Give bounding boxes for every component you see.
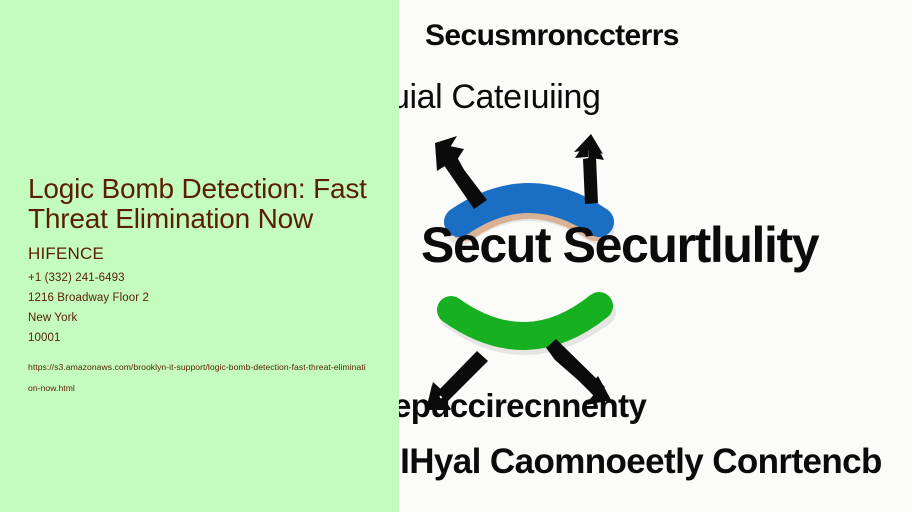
- left-info-panel: Logic Bomb Detection: Fast Threat Elimin…: [0, 0, 399, 512]
- bottom-arc: [451, 306, 599, 336]
- contact-phone[interactable]: +1 (332) 241-6493: [28, 268, 373, 288]
- page-title: Logic Bomb Detection: Fast Threat Elimin…: [28, 174, 373, 234]
- brand-name: HIFENCE: [28, 244, 373, 264]
- contact-address-zip: 10001: [28, 328, 373, 348]
- article-info-block: Logic Bomb Detection: Fast Threat Elimin…: [28, 174, 373, 399]
- graphic-footer-line-2: iIHyal Caomnoeetly Conrtencb: [399, 442, 882, 482]
- page-root: Logic Bomb Detection: Fast Threat Elimin…: [0, 0, 912, 512]
- contact-address-street: 1216 Broadway Floor 2: [28, 288, 373, 308]
- bottom-arc-shadow: [454, 312, 602, 341]
- graphic-heading-line-2: uial Cateıuiing: [399, 78, 600, 117]
- source-url-link[interactable]: https://s3.amazonaws.com/brooklyn-it-sup…: [28, 357, 368, 399]
- graphic-footer-line-1: epuccirecnnenty: [399, 387, 646, 425]
- contact-address-city: New York: [28, 308, 373, 328]
- graphic-center-label: Secut Securtlulity: [421, 216, 818, 274]
- arrow-up-left-icon: [435, 136, 487, 209]
- right-image-panel: Secusmronccterrs uial Cateıuiing: [399, 0, 912, 512]
- arrow-up-right-icon: [574, 134, 604, 204]
- graphic-heading-line-1: Secusmronccterrs: [425, 19, 679, 53]
